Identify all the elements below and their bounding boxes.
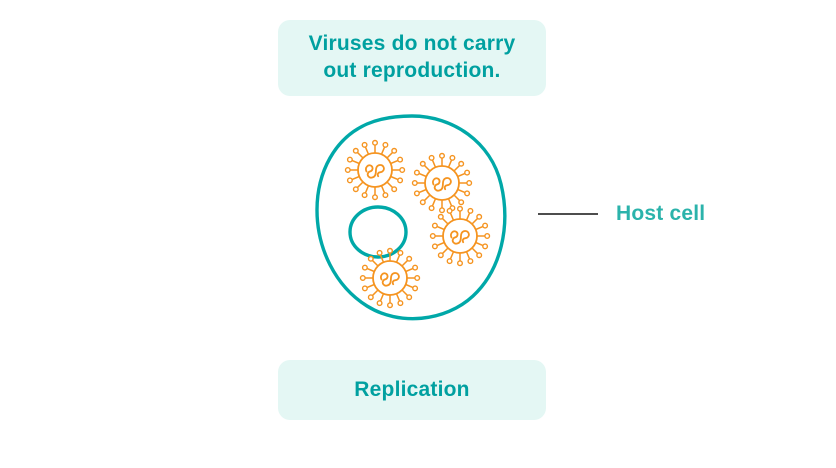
statement-text: Viruses do not carry out reproduction. — [309, 31, 516, 85]
diagram-canvas: Viruses do not carry out reproduction. — [0, 0, 836, 468]
virus-particle-top-left — [346, 141, 405, 200]
host-cell-illustration — [295, 108, 530, 328]
host-cell-label: Host cell — [616, 202, 705, 226]
host-cell-annotation: Host cell — [538, 200, 705, 228]
statement-callout-box: Viruses do not carry out reproduction. — [278, 20, 546, 96]
virus-particle-right — [431, 207, 490, 266]
stage-text: Replication — [354, 377, 469, 404]
leader-line-icon — [538, 213, 598, 215]
stage-callout-box: Replication — [278, 360, 546, 420]
virus-particle-top-right — [413, 154, 472, 213]
virus-particle-bottom — [361, 249, 420, 308]
cell-nucleus — [350, 207, 406, 257]
